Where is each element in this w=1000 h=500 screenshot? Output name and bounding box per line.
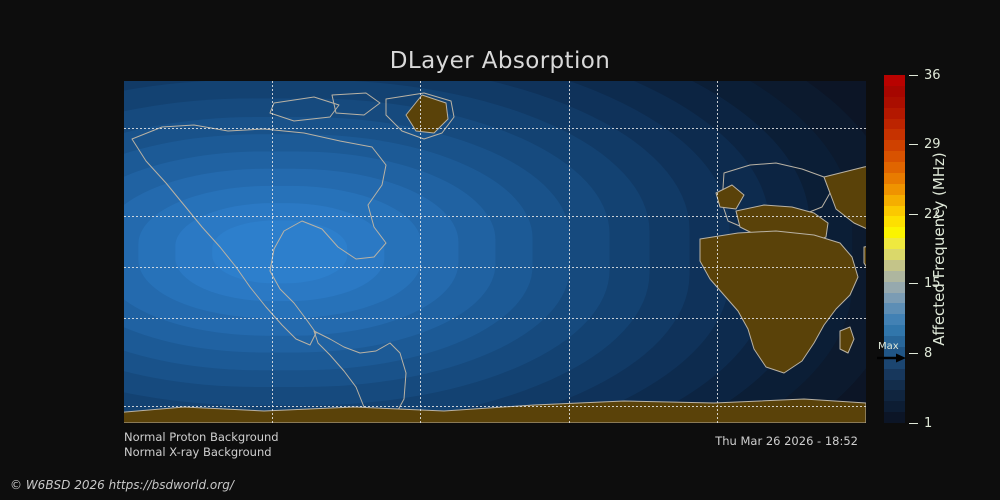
colorbar-swatch (884, 97, 905, 108)
colorbar-swatch (884, 86, 905, 97)
colorbar-swatch (884, 216, 905, 227)
dlayer-absorption-page: DLayer Absorption (0, 0, 1000, 500)
colorbar-swatch (884, 238, 905, 249)
colorbar-swatch (884, 260, 905, 271)
world-map-plot[interactable] (124, 81, 866, 423)
colorbar-tick-dash (909, 423, 918, 424)
colorbar-axis-label: Affected Frequency (MHz) (929, 75, 949, 423)
colorbar-swatch (884, 119, 905, 130)
page-title: DLayer Absorption (0, 48, 1000, 74)
colorbar-swatch (884, 129, 905, 140)
colorbar-swatch (884, 380, 905, 391)
colorbar-gradient (884, 75, 905, 423)
colorbar-swatch (884, 227, 905, 238)
colorbar-swatch (884, 162, 905, 173)
colorbar-tick-dash (909, 144, 918, 145)
xray-background-status: Normal X-ray Background (124, 445, 272, 459)
colorbar-swatch (884, 184, 905, 195)
colorbar-tick-dash (909, 75, 918, 76)
colorbar-max-marker: Max (866, 341, 926, 367)
colorbar-swatch (884, 195, 905, 206)
colorbar-swatch (884, 151, 905, 162)
colorbar-swatch (884, 412, 905, 423)
colorbar[interactable] (884, 75, 905, 423)
colorbar-swatch (884, 282, 905, 293)
colorbar-swatch (884, 249, 905, 260)
max-marker-label: Max (878, 341, 899, 352)
colorbar-swatch (884, 293, 905, 304)
colorbar-swatch (884, 369, 905, 380)
colorbar-swatch (884, 390, 905, 401)
colorbar-swatch (884, 401, 905, 412)
colorbar-tick-dash (909, 283, 918, 284)
colorbar-swatch (884, 314, 905, 325)
map-canvas (124, 81, 866, 423)
arrow-right-icon (876, 352, 908, 364)
proton-background-status: Normal Proton Background (124, 430, 279, 444)
colorbar-swatch (884, 206, 905, 217)
timestamp: Thu Mar 26 2026 - 18:52 (715, 434, 858, 448)
colorbar-tick-dash (909, 214, 918, 215)
colorbar-swatch (884, 108, 905, 119)
colorbar-axis-label-text: Affected Frequency (MHz) (930, 152, 948, 346)
colorbar-swatch (884, 173, 905, 184)
colorbar-swatch (884, 271, 905, 282)
colorbar-swatch (884, 325, 905, 336)
colorbar-swatch (884, 75, 905, 86)
colorbar-swatch (884, 140, 905, 151)
colorbar-swatch (884, 303, 905, 314)
credit-line: © W6BSD 2026 https://bsdworld.org/ (10, 478, 234, 492)
coastline-layer (124, 81, 866, 423)
